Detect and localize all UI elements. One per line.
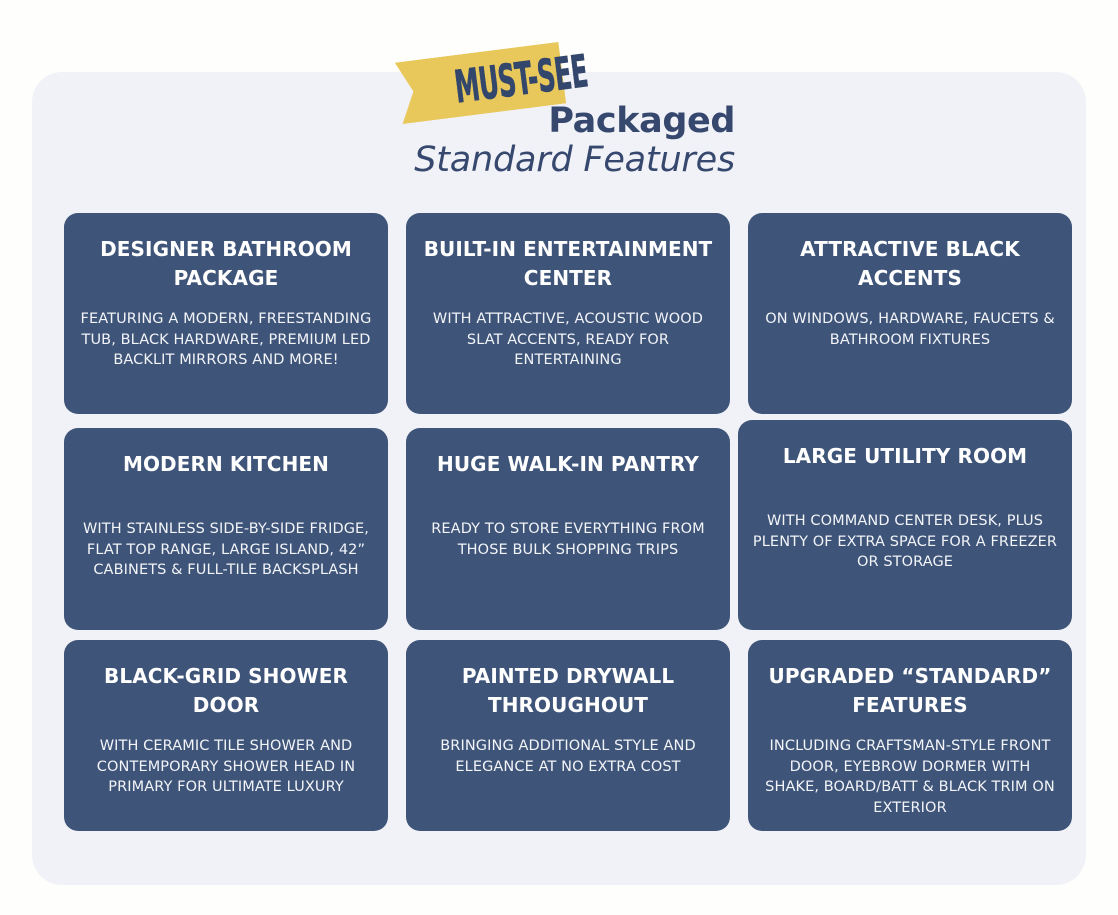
feature-card-attractive-black-accents: ATTRACTIVE BLACK ACCENTS ON WINDOWS, HAR… [748,213,1072,414]
page-title-line-2: Standard Features [414,140,735,180]
header: MUST-SEE Packaged Standard Features [32,30,1086,180]
page-title: Packaged Standard Features [414,102,735,180]
feature-card-huge-walk-in-pantry: HUGE WALK-IN PANTRY READY TO STORE EVERY… [406,428,730,630]
feature-card-painted-drywall-throughout: PAINTED DRYWALL THROUGHOUT BRINGING ADDI… [406,640,730,831]
feature-card-grid: DESIGNER BATHROOM PACKAGE FEATURING A MO… [64,213,1072,831]
feature-card-title: ATTRACTIVE BLACK ACCENTS [762,235,1058,293]
feature-card-title: LARGE UTILITY ROOM [752,442,1058,471]
feature-card-body: WITH CERAMIC TILE SHOWER AND CONTEMPORAR… [78,736,374,798]
feature-card-black-grid-shower-door: BLACK-GRID SHOWER DOOR WITH CERAMIC TILE… [64,640,388,831]
feature-card-title: HUGE WALK-IN PANTRY [420,450,716,479]
feature-card-body: INCLUDING CRAFTSMAN-STYLE FRONT DOOR, EY… [762,736,1058,818]
feature-card-title: BLACK-GRID SHOWER DOOR [78,662,374,720]
feature-card-built-in-entertainment-center: BUILT-IN ENTERTAINMENT CENTER WITH ATTRA… [406,213,730,414]
feature-card-title: DESIGNER BATHROOM PACKAGE [78,235,374,293]
feature-card-body: FEATURING A MODERN, FREESTANDING TUB, BL… [78,309,374,371]
feature-card-title: MODERN KITCHEN [78,450,374,479]
feature-card-title: PAINTED DRYWALL THROUGHOUT [420,662,716,720]
feature-card-body: READY TO STORE EVERYTHING FROM THOSE BUL… [420,519,716,560]
feature-card-designer-bathroom-package: DESIGNER BATHROOM PACKAGE FEATURING A MO… [64,213,388,414]
feature-card-body: WITH STAINLESS SIDE-BY-SIDE FRIDGE, FLAT… [78,519,374,581]
feature-card-modern-kitchen: MODERN KITCHEN WITH STAINLESS SIDE-BY-SI… [64,428,388,630]
feature-card-body: WITH ATTRACTIVE, ACOUSTIC WOOD SLAT ACCE… [420,309,716,371]
feature-card-body: ON WINDOWS, HARDWARE, FAUCETS & BATHROOM… [762,309,1058,350]
page-title-line-1: Packaged [414,102,735,140]
feature-card-large-utility-room: LARGE UTILITY ROOM WITH COMMAND CENTER D… [738,420,1072,630]
feature-card-body: WITH COMMAND CENTER DESK, PLUS PLENTY OF… [752,511,1058,573]
feature-card-title: UPGRADED “STANDARD” FEATURES [762,662,1058,720]
feature-card-body: BRINGING ADDITIONAL STYLE AND ELEGANCE A… [420,736,716,777]
page-root: MUST-SEE Packaged Standard Features DESI… [0,0,1118,915]
feature-card-upgraded-standard-features: UPGRADED “STANDARD” FEATURES INCLUDING C… [748,640,1072,831]
feature-card-title: BUILT-IN ENTERTAINMENT CENTER [420,235,716,293]
